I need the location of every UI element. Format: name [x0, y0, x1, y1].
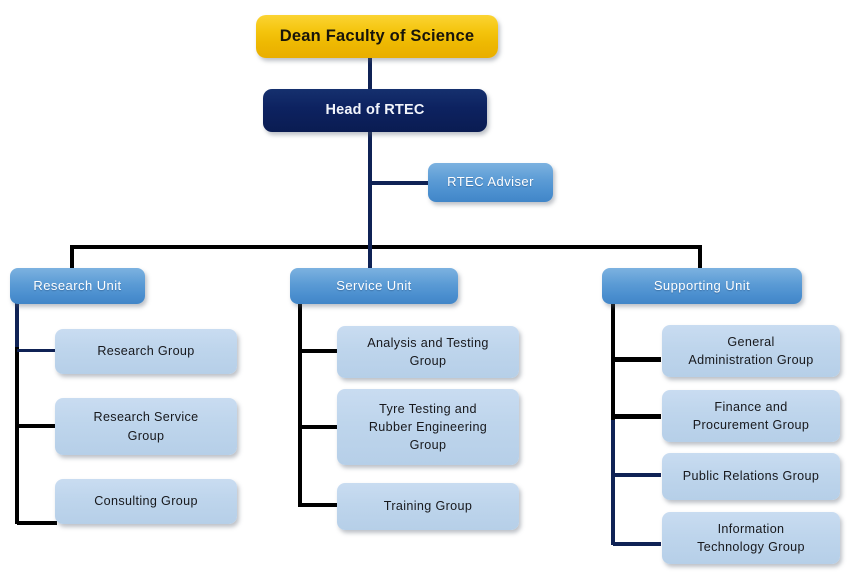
connector-service-child-3	[300, 503, 340, 507]
node-dean-faculty-of-science[interactable]: Dean Faculty of Science	[256, 15, 498, 58]
connector-supporting-child-4	[613, 542, 661, 546]
node-group-training[interactable]: Training Group	[337, 483, 519, 530]
connector-research-child-3	[17, 521, 57, 525]
node-group-research[interactable]: Research Group	[55, 329, 237, 374]
connector-supporting-spine-top	[611, 303, 615, 423]
connector-research-child-2	[17, 424, 57, 428]
connector-research-child-1	[17, 349, 57, 352]
connector-research-spine	[15, 347, 19, 524]
connector-supporting-child-1	[613, 357, 661, 362]
connector-head-spine	[368, 130, 372, 249]
connector-dean-to-head	[368, 56, 372, 91]
node-head-of-rtec[interactable]: Head of RTEC	[263, 89, 487, 132]
node-group-tyre-testing-rubber-engineering[interactable]: Tyre Testing and Rubber Engineering Grou…	[337, 389, 519, 465]
connector-service-spine	[298, 303, 302, 507]
connector-units-bar	[70, 245, 702, 249]
connector-service-child-1	[300, 349, 340, 353]
connector-head-to-adviser	[370, 181, 430, 185]
connector-supporting-child-3	[613, 473, 661, 477]
connector-service-child-2	[300, 425, 340, 429]
node-group-public-relations[interactable]: Public Relations Group	[662, 453, 840, 500]
node-group-analysis-testing[interactable]: Analysis and Testing Group	[337, 326, 519, 378]
node-group-information-technology[interactable]: Information Technology Group	[662, 512, 840, 564]
org-chart: Dean Faculty of Science Head of RTEC RTE…	[0, 0, 859, 586]
node-unit-research[interactable]: Research Unit	[10, 268, 145, 304]
node-group-research-service[interactable]: Research Service Group	[55, 398, 237, 455]
connector-supporting-child-2	[613, 414, 661, 419]
node-group-finance-procurement[interactable]: Finance and Procurement Group	[662, 390, 840, 442]
node-group-consulting[interactable]: Consulting Group	[55, 479, 237, 524]
connector-supporting-spine-bottom	[611, 420, 615, 545]
connector-research-spine-top	[15, 303, 19, 349]
node-rtec-adviser[interactable]: RTEC Adviser	[428, 163, 553, 202]
node-group-general-administration[interactable]: General Administration Group	[662, 325, 840, 377]
node-unit-service[interactable]: Service Unit	[290, 268, 458, 304]
node-unit-supporting[interactable]: Supporting Unit	[602, 268, 802, 304]
